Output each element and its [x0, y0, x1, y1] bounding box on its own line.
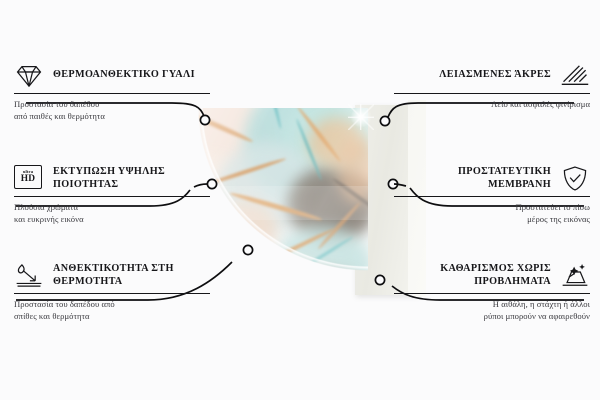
- divider: [394, 93, 590, 94]
- diamond-icon: [14, 62, 44, 89]
- divider: [14, 293, 210, 294]
- feature-subtitle: Λείο και ασφαλές φινίρισμα: [394, 99, 590, 110]
- feature-protective-membrane: ΠΡΟΣΤΑΤΕΥΤΙΚΗ ΜΕΜΒΡΑΝΗ Προστατεύει το πί…: [394, 165, 590, 225]
- feature-header: ΚΑΘΑΡΙΣΜΟΣ ΧΩΡΙΣ ΠΡΟΒΛΗΜΑΤΑ: [394, 262, 590, 289]
- feature-heat-resistant-glass: ΘΕΡΜΟΑΝΘΕΚΤΙΚΟ ΓΥΑΛΙ Προστασία του δαπέδ…: [14, 62, 210, 122]
- feature-subtitle: Πλούσια χρώματακαι ευκρινής εικόνα: [14, 202, 210, 224]
- feature-header: ultra HD ΕΚΤΥΠΩΣΗ ΥΨΗΛΗΣ ΠΟΙΟΤΗΤΑΣ: [14, 165, 210, 192]
- feature-subtitle: Προστασία του δαπέδου απόσπίθες και θερμ…: [14, 299, 210, 321]
- shield-check-icon: [560, 165, 590, 192]
- feature-subtitle: Η αιθάλη, η στάχτη ή άλλοιρύποι μπορούν …: [394, 299, 590, 321]
- infographic-canvas: ΘΕΡΜΟΑΝΘΕΚΤΙΚΟ ΓΥΑΛΙ Προστασία του δαπέδ…: [0, 0, 600, 400]
- feature-header: ΑΝΘΕΚΤΙΚΟΤΗΤΑ ΣΤΗ ΘΕΡΜΟΤΗΤΑ: [14, 262, 210, 289]
- feature-subtitle: Προστατεύει το πίσωμέρος της εικόνας: [394, 202, 590, 224]
- divider: [14, 196, 210, 197]
- polished-edge-icon: [560, 62, 590, 89]
- flame-deflect-icon: [14, 262, 44, 289]
- feature-title: ΕΚΤΥΠΩΣΗ ΥΨΗΛΗΣ ΠΟΙΟΤΗΤΑΣ: [53, 166, 210, 191]
- feature-subtitle: Προστασία του δαπέδουαπό παιθές και θερμ…: [14, 99, 210, 121]
- divider: [14, 93, 210, 94]
- feature-title: ΑΝΘΕΚΤΙΚΟΤΗΤΑ ΣΤΗ ΘΕΡΜΟΤΗΤΑ: [53, 263, 210, 288]
- feature-easy-cleaning: ΚΑΘΑΡΙΣΜΟΣ ΧΩΡΙΣ ΠΡΟΒΛΗΜΑΤΑ Η αιθάλη, η …: [394, 262, 590, 322]
- divider: [394, 293, 590, 294]
- ultra-hd-badge-icon: ultra HD: [14, 165, 44, 192]
- feature-title: ΚΑΘΑΡΙΣΜΟΣ ΧΩΡΙΣ ΠΡΟΒΛΗΜΑΤΑ: [394, 263, 551, 288]
- feature-high-quality-print: ultra HD ΕΚΤΥΠΩΣΗ ΥΨΗΛΗΣ ΠΟΙΟΤΗΤΑΣ Πλούσ…: [14, 165, 210, 225]
- feature-heat-durability: ΑΝΘΕΚΤΙΚΟΤΗΤΑ ΣΤΗ ΘΕΡΜΟΤΗΤΑ Προστασία το…: [14, 262, 210, 322]
- feature-polished-edges: ΛΕΙΑΣΜΕΝΕΣ ΆΚΡΕΣ Λείο και ασφαλές φινίρι…: [394, 62, 590, 111]
- feature-title: ΛΕΙΑΣΜΕΝΕΣ ΆΚΡΕΣ: [439, 69, 551, 82]
- feature-header: ΠΡΟΣΤΑΤΕΥΤΙΚΗ ΜΕΜΒΡΑΝΗ: [394, 165, 590, 192]
- feature-header: ΘΕΡΜΟΑΝΘΕΚΤΙΚΟ ΓΥΑΛΙ: [14, 62, 210, 89]
- sparkle-wipe-icon: [560, 262, 590, 289]
- feature-title: ΠΡΟΣΤΑΤΕΥΤΙΚΗ ΜΕΜΒΡΑΝΗ: [394, 166, 551, 191]
- divider: [394, 196, 590, 197]
- feature-title: ΘΕΡΜΟΑΝΘΕΚΤΙΚΟ ΓΥΑΛΙ: [53, 69, 195, 82]
- feature-header: ΛΕΙΑΣΜΕΝΕΣ ΆΚΡΕΣ: [394, 62, 590, 89]
- badge-bottom-label: HD: [21, 175, 35, 184]
